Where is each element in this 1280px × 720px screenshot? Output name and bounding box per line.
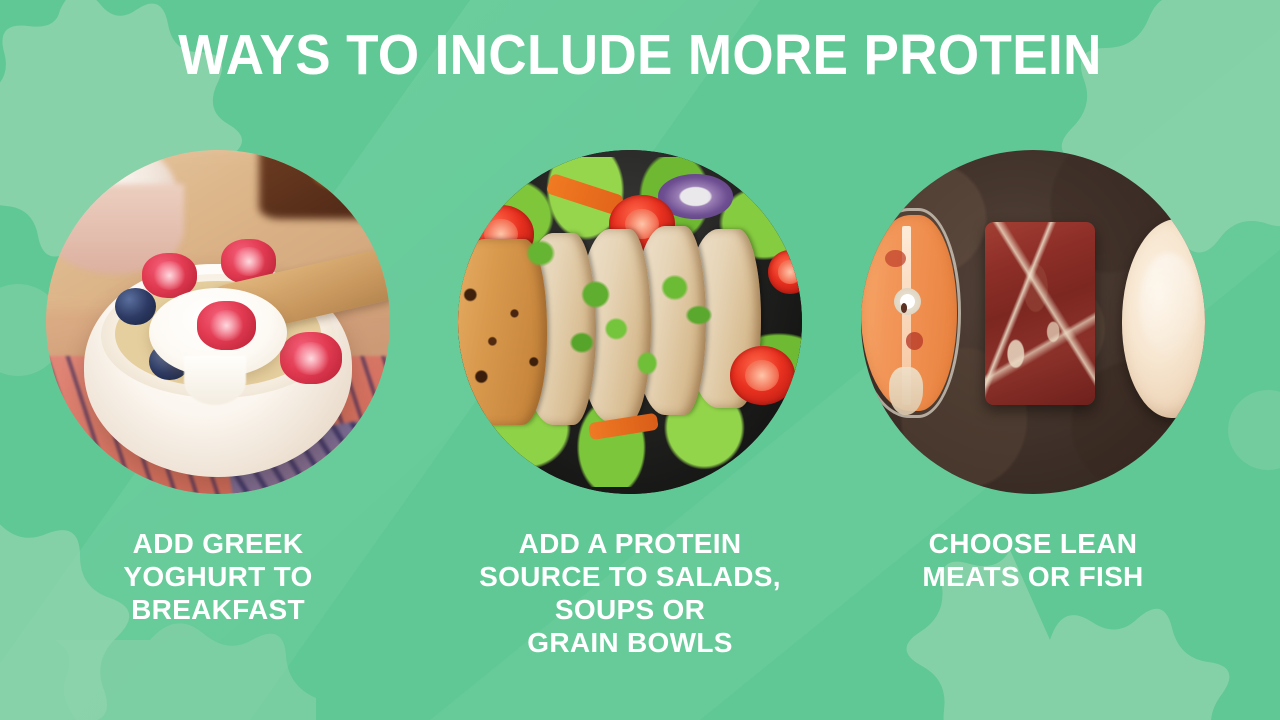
yoghurt-bowl-illustration: [46, 150, 390, 494]
protein-tips-grid: ADD GREEK YOGHURT TO BREAKFAST: [0, 0, 1280, 720]
caption-protein-source: ADD A PROTEIN SOURCE TO SALADS, SOUPS OR…: [420, 527, 840, 659]
salmon-belly-flap: [889, 367, 923, 415]
yoghurt-drip: [184, 356, 246, 404]
raspberry: [280, 332, 342, 384]
caption-line: CHOOSE LEAN: [823, 527, 1243, 560]
lean-meats-illustration: [861, 150, 1205, 494]
caption-line: MEATS OR FISH: [823, 560, 1243, 593]
caption-line: GRAIN BOWLS: [420, 626, 840, 659]
caption-line: ADD A PROTEIN: [420, 527, 840, 560]
chicken-salad-illustration: [458, 150, 802, 494]
caption-line: ADD GREEK: [8, 527, 428, 560]
caption-greek-yoghurt: ADD GREEK YOGHURT TO BREAKFAST: [8, 527, 428, 626]
caption-line: BREAKFAST: [8, 593, 428, 626]
salmon-marking: [885, 250, 906, 267]
photo-chicken-salad: [458, 150, 802, 494]
caption-line: SOUPS OR: [420, 593, 840, 626]
caption-line: YOGHURT TO: [8, 560, 428, 593]
tip-card-protein-source: ADD A PROTEIN SOURCE TO SALADS, SOUPS OR…: [420, 0, 840, 720]
photo-lean-meats: [861, 150, 1205, 494]
tip-card-lean-meats: CHOOSE LEAN MEATS OR FISH: [823, 0, 1243, 720]
salmon-marking: [906, 332, 923, 349]
photo-greek-yoghurt: [46, 150, 390, 494]
raspberry: [197, 301, 255, 349]
background-fruit: [314, 153, 383, 187]
blueberry: [115, 288, 156, 326]
beef-marbling: [985, 222, 1095, 404]
caption-lean-meats: CHOOSE LEAN MEATS OR FISH: [823, 527, 1243, 593]
page-title: WAYS TO INCLUDE MORE PROTEIN: [45, 22, 1235, 88]
chicken-highlight: [1140, 253, 1198, 356]
salmon-bone: [894, 288, 922, 316]
caption-line: SOURCE TO SALADS,: [420, 560, 840, 593]
tip-card-greek-yoghurt: ADD GREEK YOGHURT TO BREAKFAST: [8, 0, 428, 720]
parsley-garnish: [458, 150, 802, 494]
